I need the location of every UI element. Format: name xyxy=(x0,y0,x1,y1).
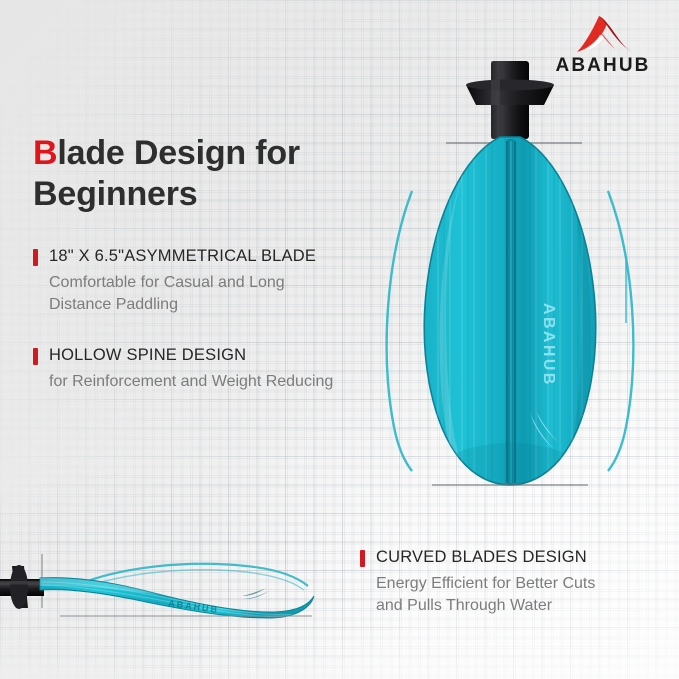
profile-brand-text: ABAHUB xyxy=(168,598,220,615)
feature-heading-row: CURVED BLADES DESIGN xyxy=(360,547,660,568)
page-title: Blade Design for Beginners xyxy=(33,133,373,215)
paddle-blade-profile-svg: ABAHUB xyxy=(0,536,340,641)
headline-line-1: lade Design for xyxy=(57,134,300,172)
feature-subtitle-line-2: Distance Paddling xyxy=(49,296,178,313)
infographic-canvas: ABAHUB Blade Design for Beginners 18" X … xyxy=(0,0,679,679)
feature-curved-blades: CURVED BLADES DESIGN Energy Efficient fo… xyxy=(360,547,660,618)
guide-curve-left xyxy=(387,191,412,471)
headline-accent-letter: B xyxy=(33,134,57,172)
feature-subtitle-line-1: for Reinforcement and Weight Reducing xyxy=(49,373,333,390)
feature-hollow-spine: HOLLOW SPINE DESIGN for Reinforcement an… xyxy=(33,345,383,393)
profile-shaft-highlight xyxy=(0,581,44,585)
blade-brand-text: ABAHUB xyxy=(540,303,557,387)
profile-logo-swoosh-icon xyxy=(242,585,270,602)
profile-collar-face xyxy=(10,565,28,609)
paddle-blade-profile-image: ABAHUB xyxy=(0,536,340,641)
feature-subtitle: Comfortable for Casual and Long Distance… xyxy=(49,272,363,317)
feature-title: HOLLOW SPINE DESIGN xyxy=(49,345,246,366)
bullet-marker-icon xyxy=(360,550,365,567)
feature-subtitle: Energy Efficient for Better Cuts and Pul… xyxy=(376,573,660,618)
feature-title: CURVED BLADES DESIGN xyxy=(376,547,587,568)
paddle-blade-front-image: ABAHUB xyxy=(368,55,654,525)
feature-subtitle: for Reinforcement and Weight Reducing xyxy=(49,371,383,394)
bullet-marker-icon xyxy=(33,348,38,365)
feature-asymmetrical-blade: 18" X 6.5"ASYMMETRICAL BLADE Comfortable… xyxy=(33,246,363,317)
guide-curve-right xyxy=(608,191,633,471)
feature-heading-row: HOLLOW SPINE DESIGN xyxy=(33,345,383,366)
feature-subtitle-line-2: and Pulls Through Water xyxy=(376,597,552,614)
feature-subtitle-line-1: Energy Efficient for Better Cuts xyxy=(376,575,595,592)
collar-top-edge xyxy=(466,80,554,91)
headline-line-2: Beginners xyxy=(33,175,197,213)
profile-brand-mark: ABAHUB xyxy=(168,585,270,615)
feature-subtitle-line-1: Comfortable for Casual and Long xyxy=(49,274,285,291)
feature-heading-row: 18" X 6.5"ASYMMETRICAL BLADE xyxy=(33,246,363,267)
paddle-blade-front-svg: ABAHUB xyxy=(368,55,654,525)
abahub-wave-mark-icon xyxy=(570,14,636,54)
bullet-marker-icon xyxy=(33,249,38,266)
feature-title: 18" X 6.5"ASYMMETRICAL BLADE xyxy=(49,246,316,267)
shaft-highlight xyxy=(491,61,500,139)
